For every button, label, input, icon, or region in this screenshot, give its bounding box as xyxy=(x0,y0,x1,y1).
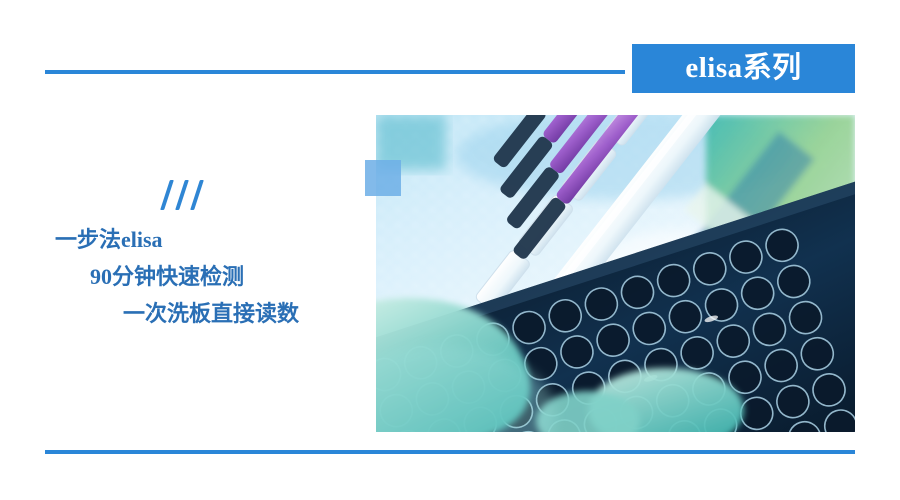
lab-photo-illustration xyxy=(376,115,855,432)
slide-canvas: elisa系列 一步法elisa 90分钟快速检测 一次洗板直接读数 xyxy=(0,0,900,500)
slash-mark-1 xyxy=(160,180,174,210)
slash-mark-3 xyxy=(190,180,204,210)
page-title: elisa系列 xyxy=(685,54,801,83)
headline-line-1: 一步法elisa xyxy=(45,222,345,259)
slash-decoration-icon xyxy=(165,180,199,214)
title-banner: elisa系列 xyxy=(632,44,855,93)
slash-mark-2 xyxy=(175,180,189,210)
top-divider-rule xyxy=(45,70,625,74)
bottom-divider-rule xyxy=(45,450,855,454)
headline-line-3: 一次洗板直接读数 xyxy=(45,296,345,333)
lab-photo xyxy=(376,115,855,432)
headline-line-2: 90分钟快速检测 xyxy=(45,259,345,296)
headline-list: 一步法elisa 90分钟快速检测 一次洗板直接读数 xyxy=(45,222,345,333)
accent-square-decoration xyxy=(365,160,401,196)
